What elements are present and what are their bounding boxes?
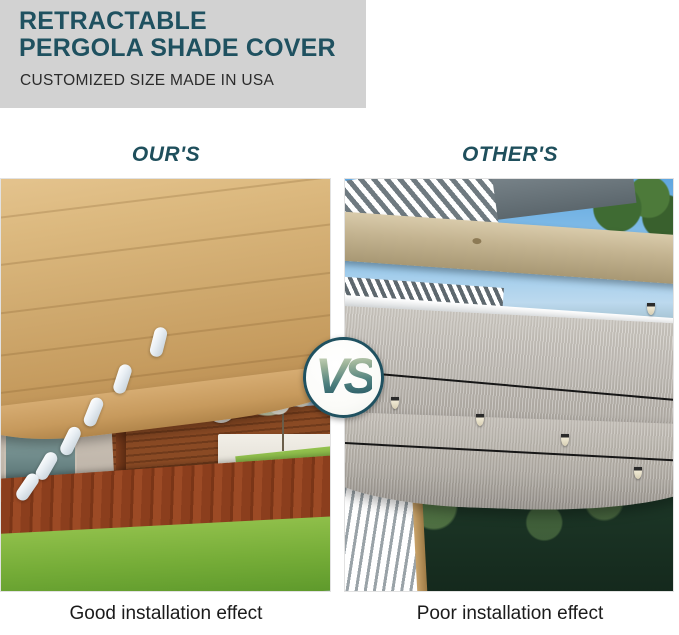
banner-title-line2: PERGOLA SHADE COVER (19, 35, 359, 62)
photo-ours (0, 178, 331, 592)
caption-poor-installation: Poor installation effect (344, 603, 676, 625)
scene-good-installation (1, 179, 330, 591)
vs-badge-label: VS (315, 351, 372, 401)
string-light-bulb (647, 303, 655, 315)
photo-others (344, 178, 674, 592)
caption-good-installation: Good installation effect (0, 603, 332, 625)
heading-ours: OUR'S (0, 143, 332, 167)
banner-subtitle: CUSTOMIZED SIZE MADE IN USA (20, 72, 274, 90)
product-comparison-image: RETRACTABLE PERGOLA SHADE COVER CUSTOMIZ… (0, 0, 679, 635)
vs-badge: VS (303, 337, 384, 418)
banner-title-line1: RETRACTABLE (19, 7, 207, 35)
scene-poor-installation (345, 179, 673, 591)
sagging-mesh-shade-lower (345, 411, 673, 515)
header-banner: RETRACTABLE PERGOLA SHADE COVER CUSTOMIZ… (0, 0, 366, 108)
heading-others: OTHER'S (344, 143, 676, 167)
banner-title: RETRACTABLE PERGOLA SHADE COVER (19, 8, 359, 62)
